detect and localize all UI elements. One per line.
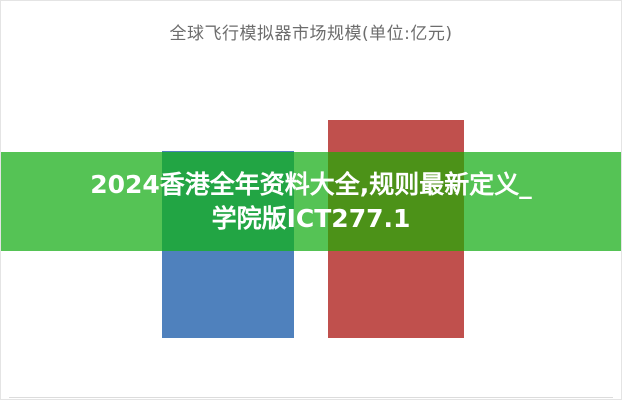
overlay-text-line-1: 2024香港全年资料大全,规则最新定义_ — [90, 168, 532, 202]
overlay-banner: 2024香港全年资料大全,规则最新定义_ 学院版ICT277.1 — [1, 152, 621, 251]
x-axis-line — [9, 397, 613, 398]
chart-title: 全球飞行模拟器市场规模(单位:亿元) — [1, 19, 621, 44]
overlay-text-line-2: 学院版ICT277.1 — [212, 202, 411, 236]
screenshot-root: 全球飞行模拟器市场规模(单位:亿元) 277.5 336.4 全球 (2024-… — [0, 0, 622, 400]
overlay-text: 2024香港全年资料大全,规则最新定义_ 学院版ICT277.1 — [1, 152, 621, 251]
